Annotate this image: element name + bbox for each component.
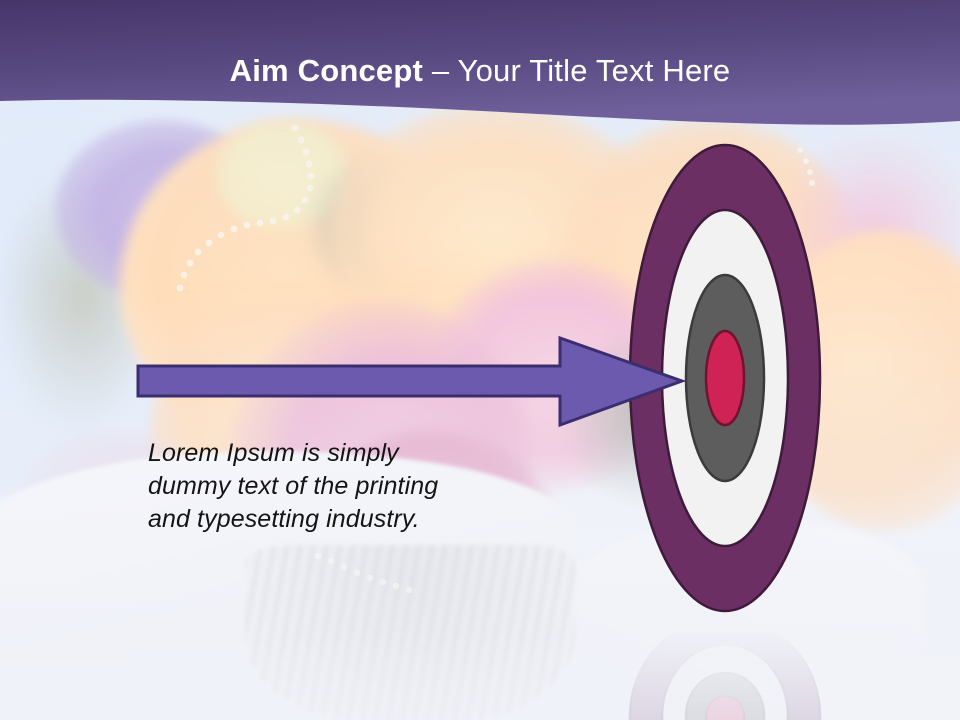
arrow-icon [138, 338, 682, 425]
body-text: Lorem Ipsum is simply dummy text of the … [148, 437, 548, 536]
body-text-line-2: dummy text of the printing [148, 470, 548, 503]
slide: Lorem Ipsum is simply dummy text of the … [0, 0, 960, 720]
page-title-bold: Aim Concept [230, 53, 423, 88]
target-bullseye-center [706, 331, 744, 425]
page-title-rest: – Your Title Text Here [423, 53, 730, 88]
title-banner: Aim Concept – Your Title Text Here [0, 0, 960, 140]
arrow-shape[interactable] [130, 330, 690, 435]
page-title: Aim Concept – Your Title Text Here [0, 52, 960, 90]
body-text-line-1: Lorem Ipsum is simply [148, 437, 548, 470]
body-text-line-3: and typesetting industry. [148, 503, 548, 536]
